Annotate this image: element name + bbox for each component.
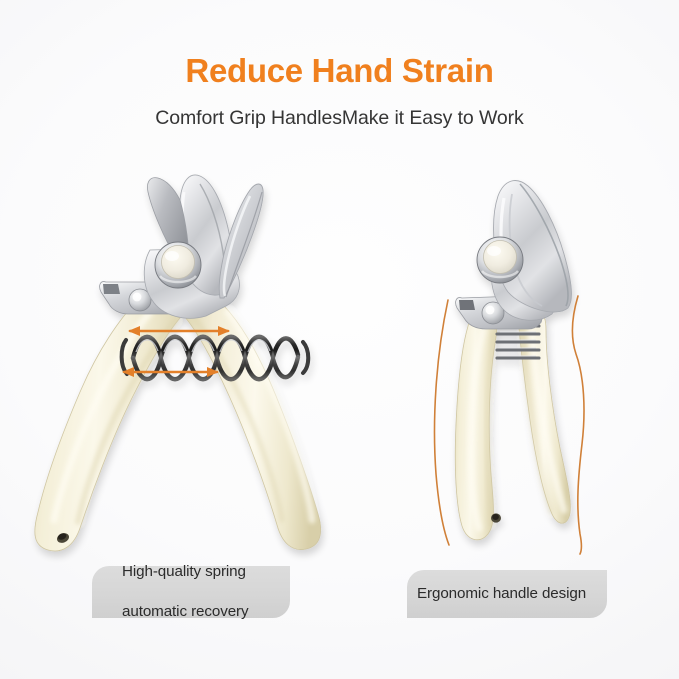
- latch-rivet-icon: [482, 302, 504, 324]
- right-pruner-body: [456, 244, 567, 329]
- product-feature-image: Reduce Hand Strain Comfort Grip HandlesM…: [0, 0, 679, 679]
- right-pruner-annotation-curves: [435, 296, 585, 554]
- hang-hole-icon: [56, 531, 71, 544]
- caption-right-text: Ergonomic handle design: [417, 584, 607, 604]
- page-title: Reduce Hand Strain: [0, 53, 679, 89]
- left-pruner-annotation-arrows: [122, 326, 230, 377]
- latch-rivet-icon: [129, 289, 151, 311]
- left-pruner-pivot-bolt: [155, 242, 201, 288]
- left-pruner-handle-upper: [184, 300, 321, 550]
- caption-high-quality-spring: High-quality spring automatic recovery: [92, 566, 290, 618]
- caption-left-line1: High-quality spring: [122, 562, 290, 582]
- contour-curve-right: [572, 296, 584, 554]
- caption-left-line2: automatic recovery: [122, 602, 290, 622]
- right-pruner-handle-left: [455, 316, 501, 540]
- left-pruner: [35, 175, 321, 551]
- right-pruner-spring: [494, 316, 542, 358]
- caption-left-text: High-quality spring automatic recovery: [122, 562, 290, 622]
- left-pruner-spring: [122, 337, 309, 380]
- contour-curve-left: [435, 300, 450, 545]
- hang-hole-icon: [491, 513, 501, 522]
- caption-ergonomic-handle: Ergonomic handle design: [407, 570, 607, 618]
- left-pruner-blades: [147, 175, 263, 298]
- page-subtitle: Comfort Grip HandlesMake it Easy to Work: [0, 107, 679, 130]
- right-pruner-handle-right: [518, 313, 570, 523]
- left-pruner-handle-lower: [35, 300, 180, 551]
- right-pruner-pivot-bolt: [477, 237, 523, 283]
- left-pruner-body: [100, 248, 240, 318]
- right-pruner: [455, 181, 571, 540]
- right-pruner-blade: [494, 181, 572, 312]
